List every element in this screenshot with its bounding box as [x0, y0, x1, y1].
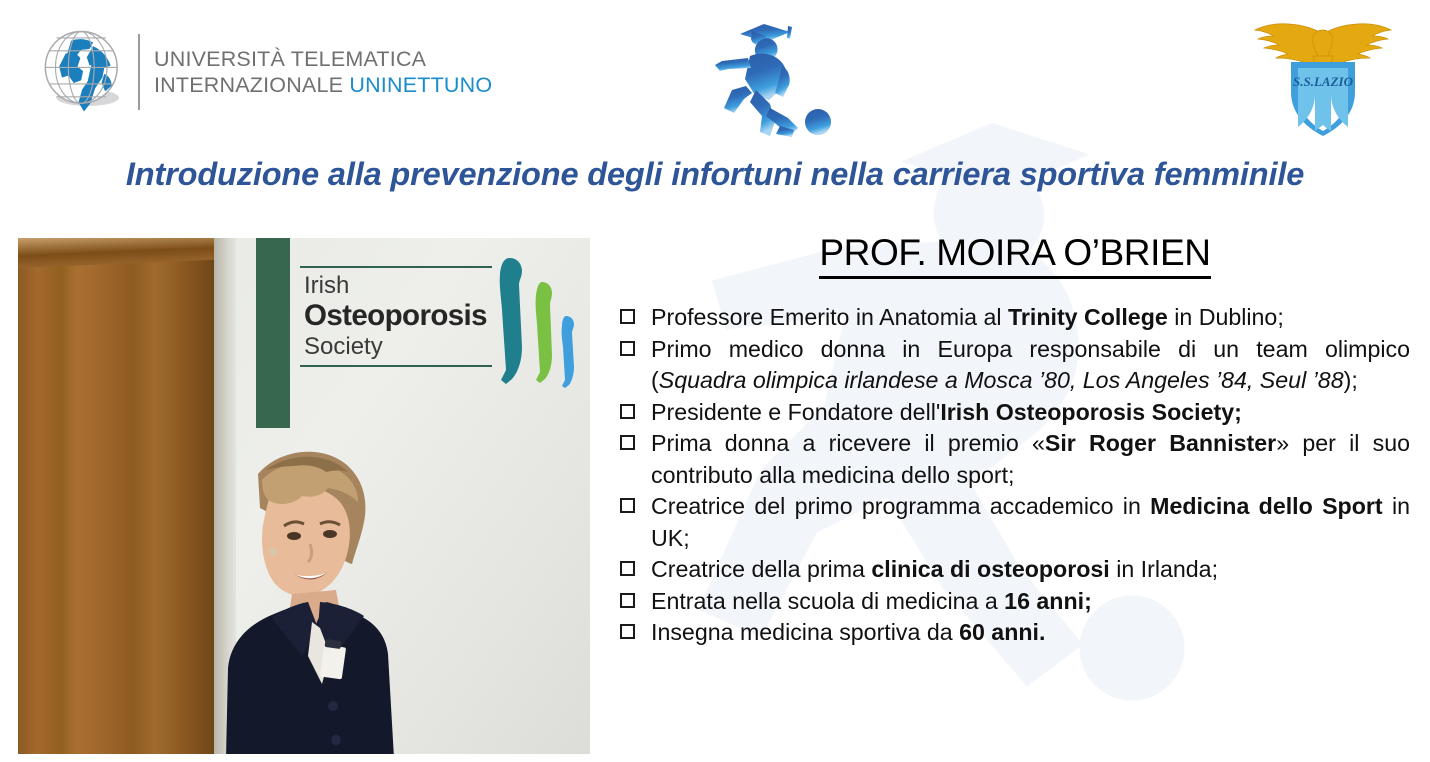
uninettuno-logo: UNIVERSITÀ TELEMATICA INTERNAZIONALE UNI…: [38, 24, 492, 120]
ios-sign-text: Irish Osteoporosis Society: [300, 266, 492, 367]
credentials-list: Professore Emerito in Anatomia al Trinit…: [620, 302, 1410, 649]
bullet-text: Creatrice del primo programma accademico…: [651, 491, 1410, 554]
bullet-text: Professore Emerito in Anatomia al Trinit…: [651, 302, 1410, 334]
speaker-photo: Irish Osteoporosis Society: [18, 238, 590, 754]
bullet-text: Creatrice della prima clinica di osteopo…: [651, 554, 1410, 586]
checkbox-square-icon: [620, 341, 635, 356]
checkbox-square-icon: [620, 593, 635, 608]
lazio-eagle-crest-icon: S.S.LAZIO: [1253, 16, 1393, 138]
slide-header: UNIVERSITÀ TELEMATICA INTERNAZIONALE UNI…: [0, 0, 1430, 145]
irish-osteoporosis-society-sign: Irish Osteoporosis Society: [300, 252, 578, 392]
checkbox-square-icon: [620, 624, 635, 639]
photo-person: [170, 418, 480, 754]
checkbox-square-icon: [620, 561, 635, 576]
checkbox-square-icon: [620, 404, 635, 419]
ios-family-figures-icon: [496, 252, 578, 392]
uninettuno-line2-blue: UNINETTUNO: [349, 73, 492, 97]
lazio-crest-text: S.S.LAZIO: [1293, 74, 1354, 89]
bullet-text: Primo medico donna in Europa responsabil…: [651, 334, 1410, 397]
speaker-name-text: PROF. MOIRA O’BRIEN: [819, 232, 1210, 279]
checkbox-square-icon: [620, 498, 635, 513]
globe-icon: [38, 26, 130, 118]
uninettuno-line1: UNIVERSITÀ TELEMATICA: [154, 46, 492, 72]
bullet-italic: Squadra olimpica irlandese a Mosca ’80, …: [659, 367, 1344, 393]
checkbox-square-icon: [620, 309, 635, 324]
bullet-text: Entrata nella scuola di medicina a 16 an…: [651, 586, 1410, 618]
bullet-ios-president: Presidente e Fondatore dell'Irish Osteop…: [620, 397, 1410, 429]
ios-rule-bottom: [300, 365, 492, 367]
bullet-medical-school-age: Entrata nella scuola di medicina a 16 an…: [620, 586, 1410, 618]
page-title: Introduzione alla prevenzione degli info…: [0, 156, 1430, 193]
logo-divider: [138, 34, 140, 110]
uninettuno-line2: INTERNAZIONALE UNINETTUNO: [154, 72, 492, 98]
bullet-olympic-team: Primo medico donna in Europa responsabil…: [620, 334, 1410, 397]
bullet-emphasis: Trinity College: [1008, 304, 1168, 330]
bullet-plain: Prima donna a ricevere il premio «: [651, 430, 1045, 456]
bullet-plain: Creatrice della prima: [651, 556, 871, 582]
bullet-emphasis: Medicina dello Sport: [1150, 493, 1382, 519]
ios-line-osteoporosis: Osteoporosis: [300, 300, 492, 332]
photo-green-panel: [256, 238, 290, 428]
bullet-plain: Insegna medicina sportiva da: [651, 619, 959, 645]
ios-line-irish: Irish: [300, 268, 492, 300]
uninettuno-wordmark: UNIVERSITÀ TELEMATICA INTERNAZIONALE UNI…: [154, 46, 492, 98]
bullet-trinity-college: Professore Emerito in Anatomia al Trinit…: [620, 302, 1410, 334]
bullet-plain: );: [1344, 367, 1358, 393]
bullet-emphasis: clinica di osteoporosi: [871, 556, 1109, 582]
speaker-name-heading: PROF. MOIRA O’BRIEN: [620, 232, 1410, 276]
bullet-emphasis: 16 anni;: [1004, 588, 1092, 614]
bullet-plain: in Dublino;: [1168, 304, 1284, 330]
uninettuno-line2-grey: INTERNAZIONALE: [154, 73, 349, 97]
bullet-plain: Creatrice del primo programma accademico…: [651, 493, 1150, 519]
ios-line-society: Society: [300, 332, 492, 365]
bullet-emphasis: Irish Osteoporosis Society;: [940, 399, 1242, 425]
footballer-graduate-icon: [690, 14, 880, 139]
bullet-emphasis: 60 anni.: [959, 619, 1045, 645]
main-content: PROF. MOIRA O’BRIEN Professore Emerito i…: [620, 232, 1410, 649]
bullet-plain: in Irlanda;: [1110, 556, 1218, 582]
bullet-plain: Professore Emerito in Anatomia al: [651, 304, 1008, 330]
bullet-bannister-award: Prima donna a ricevere il premio «Sir Ro…: [620, 428, 1410, 491]
bullet-sports-medicine-program: Creatrice del primo programma accademico…: [620, 491, 1410, 554]
bullet-emphasis: Sir Roger Bannister: [1045, 430, 1276, 456]
bullet-plain: Presidente e Fondatore dell': [651, 399, 940, 425]
bullet-text: Prima donna a ricevere il premio «Sir Ro…: [651, 428, 1410, 491]
bullet-osteoporosis-clinic: Creatrice della prima clinica di osteopo…: [620, 554, 1410, 586]
bullet-teaching-years: Insegna medicina sportiva da 60 anni.: [620, 617, 1410, 649]
checkbox-square-icon: [620, 435, 635, 450]
bullet-plain: Entrata nella scuola di medicina a: [651, 588, 1004, 614]
bullet-text: Presidente e Fondatore dell'Irish Osteop…: [651, 397, 1410, 429]
bullet-text: Insegna medicina sportiva da 60 anni.: [651, 617, 1410, 649]
